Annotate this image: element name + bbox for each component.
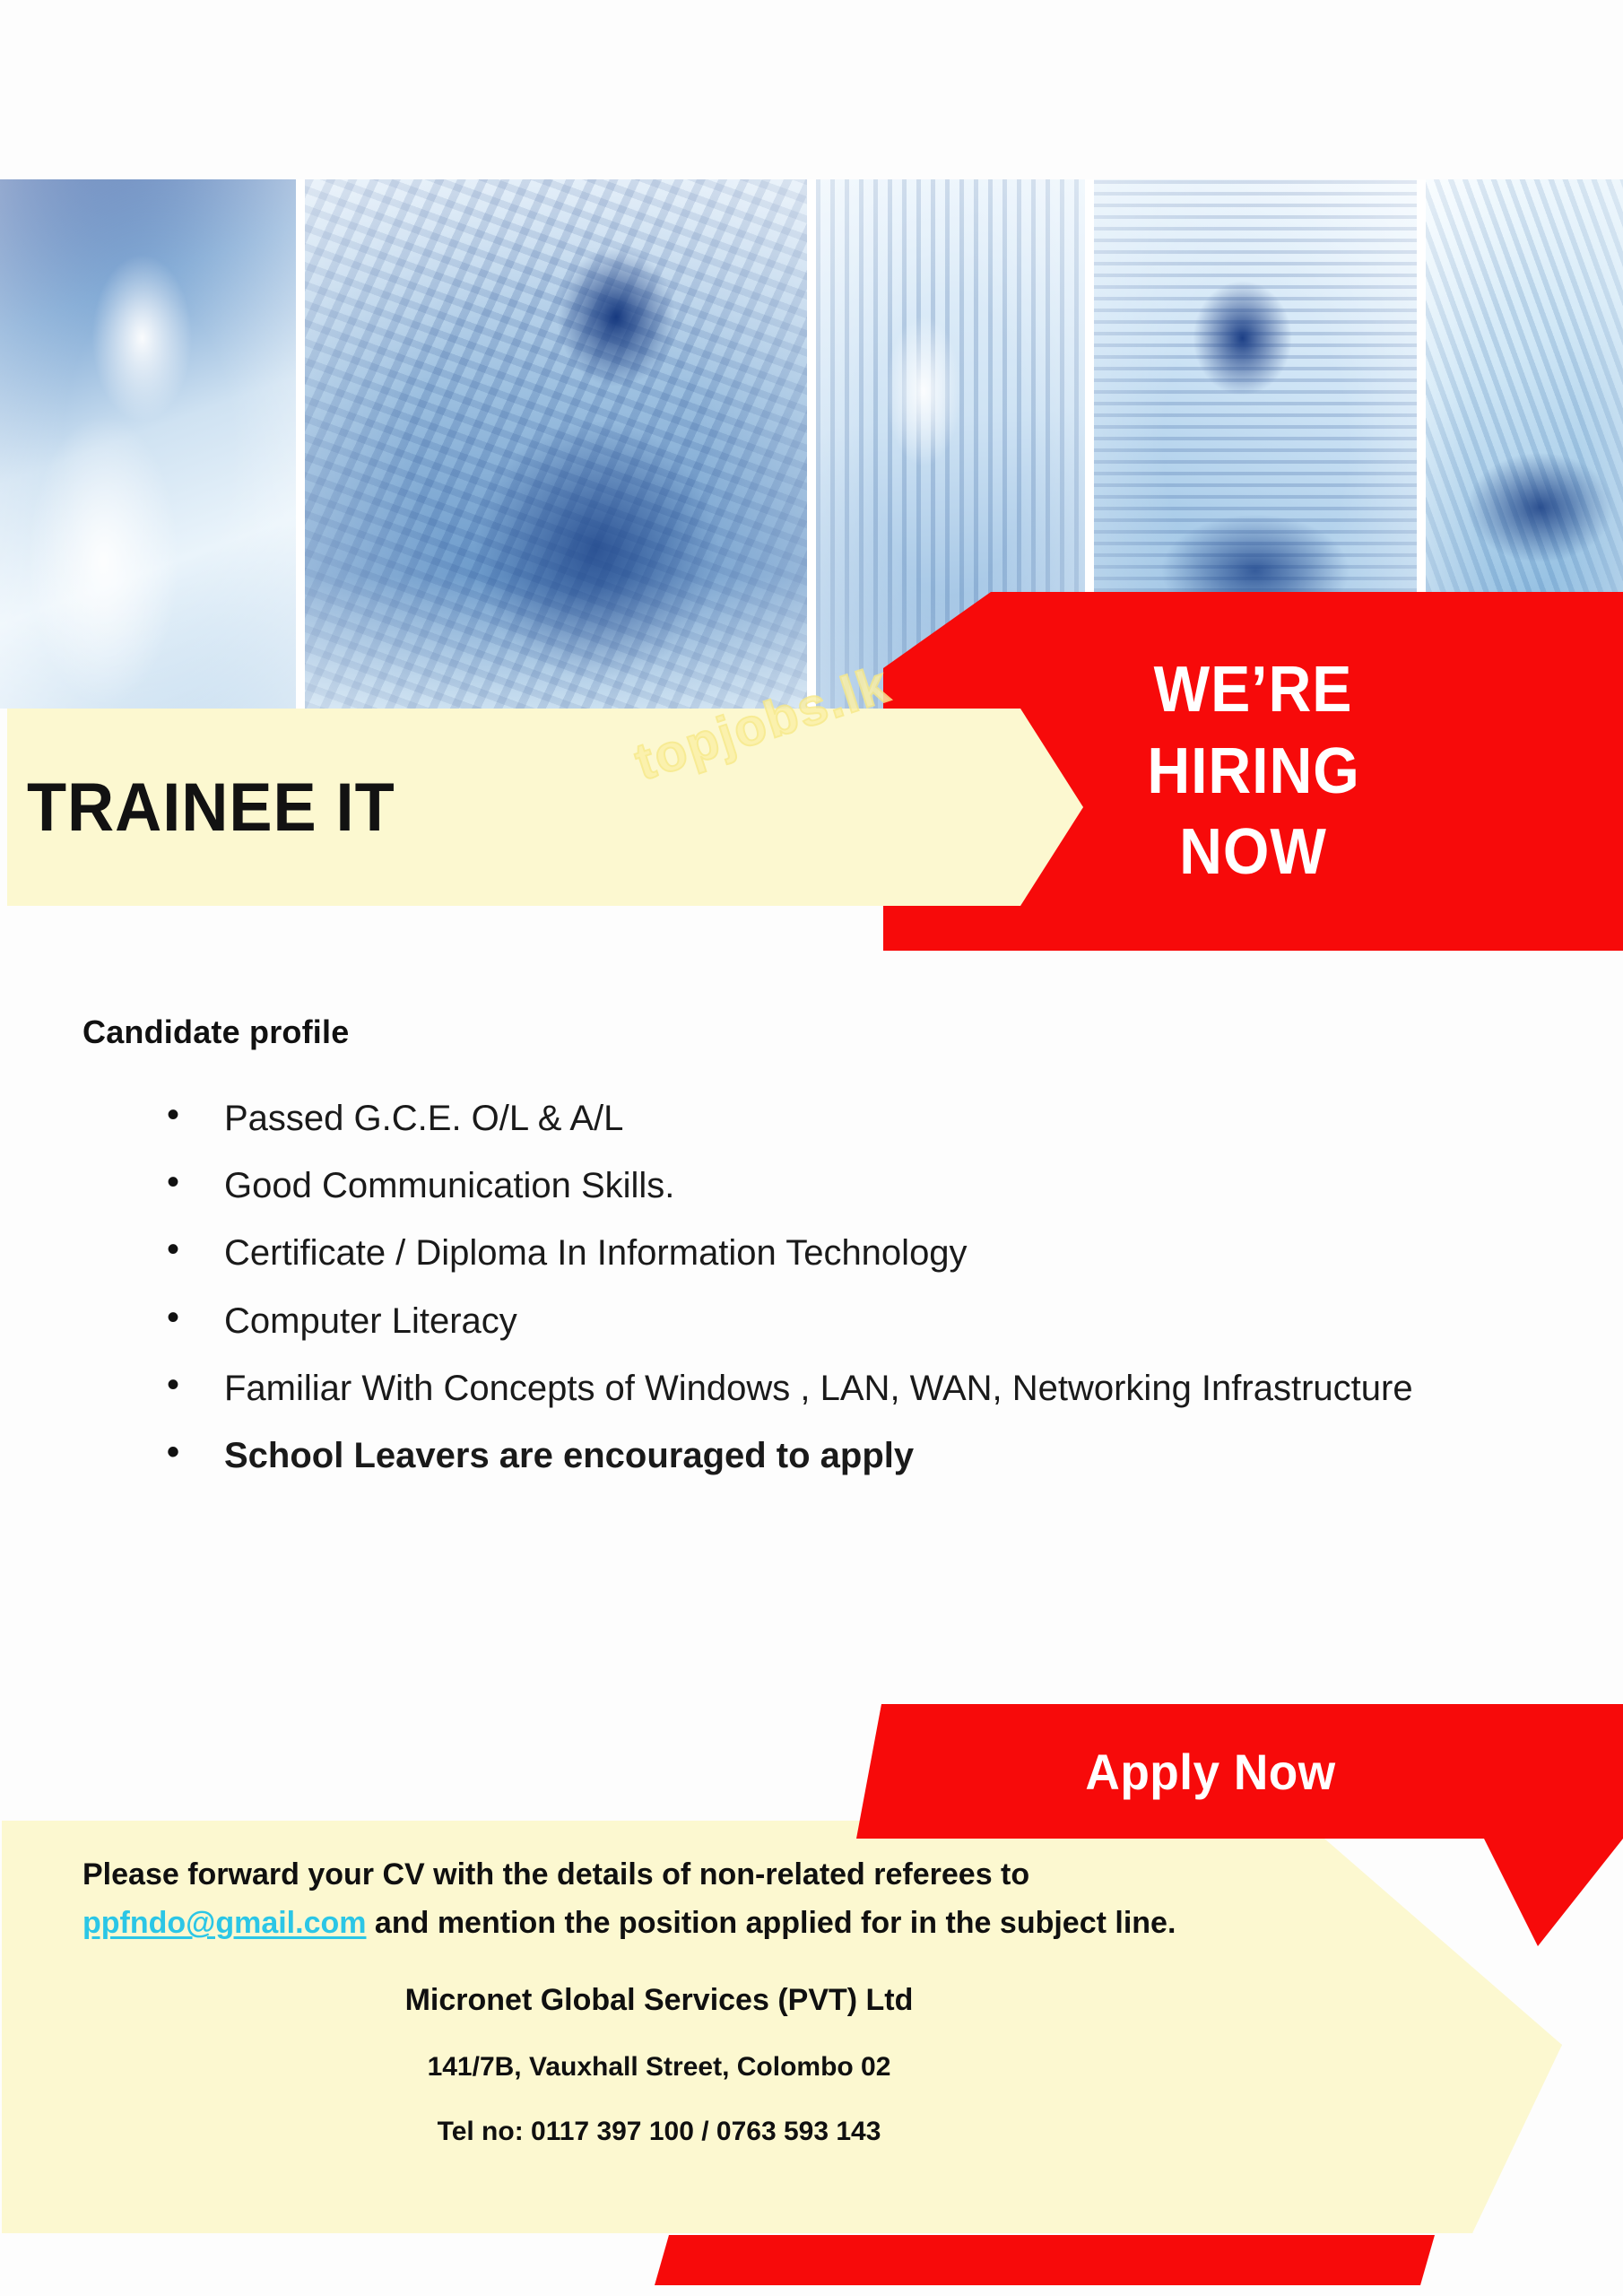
photo-vignette — [0, 179, 296, 709]
email-link[interactable]: ppfndo@gmail.com — [82, 1906, 366, 1940]
contact-details: Please forward your CV with the details … — [0, 1821, 1506, 2233]
job-title: TRAINEE IT — [27, 709, 794, 906]
bottom-accent-strip — [655, 2235, 1435, 2285]
list-item: Certificate / Diploma In Information Tec… — [0, 1232, 1623, 1274]
list-item: Familiar With Concepts of Windows , LAN,… — [0, 1368, 1623, 1410]
cv-instruction-line-1: Please forward your CV with the details … — [82, 1853, 1506, 1896]
company-telephone: Tel no: 0117 397 100 / 0763 593 143 — [0, 2117, 1318, 2147]
job-poster: WE’RE HIRING NOW topjobs.lk TRAINEE IT C… — [0, 0, 1623, 2296]
cv-instruction-line-2: ppfndo@gmail.com and mention the positio… — [82, 1901, 1506, 1944]
list-item: Computer Literacy — [0, 1300, 1623, 1343]
list-item: School Leavers are encouraged to apply — [0, 1435, 1623, 1477]
candidate-profile-section: Candidate profile Passed G.C.E. O/L & A/… — [0, 1013, 1623, 1502]
list-item: Good Communication Skills. — [0, 1165, 1623, 1207]
company-name: Micronet Global Services (PVT) Ltd — [0, 1983, 1318, 2018]
photo-divider — [296, 179, 305, 709]
company-block: Micronet Global Services (PVT) Ltd 141/7… — [0, 1983, 1506, 2147]
photo-divider — [807, 179, 816, 709]
call-center-agent-photo — [305, 179, 807, 709]
candidate-profile-heading: Candidate profile — [82, 1013, 1623, 1051]
company-address: 141/7B, Vauxhall Street, Colombo 02 — [0, 2052, 1318, 2083]
office-conversation-photo — [0, 179, 296, 709]
list-item: Passed G.C.E. O/L & A/L — [0, 1098, 1623, 1140]
photo-vignette — [305, 179, 807, 709]
cv-instruction-rest: and mention the position applied for in … — [366, 1906, 1176, 1940]
requirements-list: Passed G.C.E. O/L & A/L Good Communicati… — [0, 1098, 1623, 1477]
